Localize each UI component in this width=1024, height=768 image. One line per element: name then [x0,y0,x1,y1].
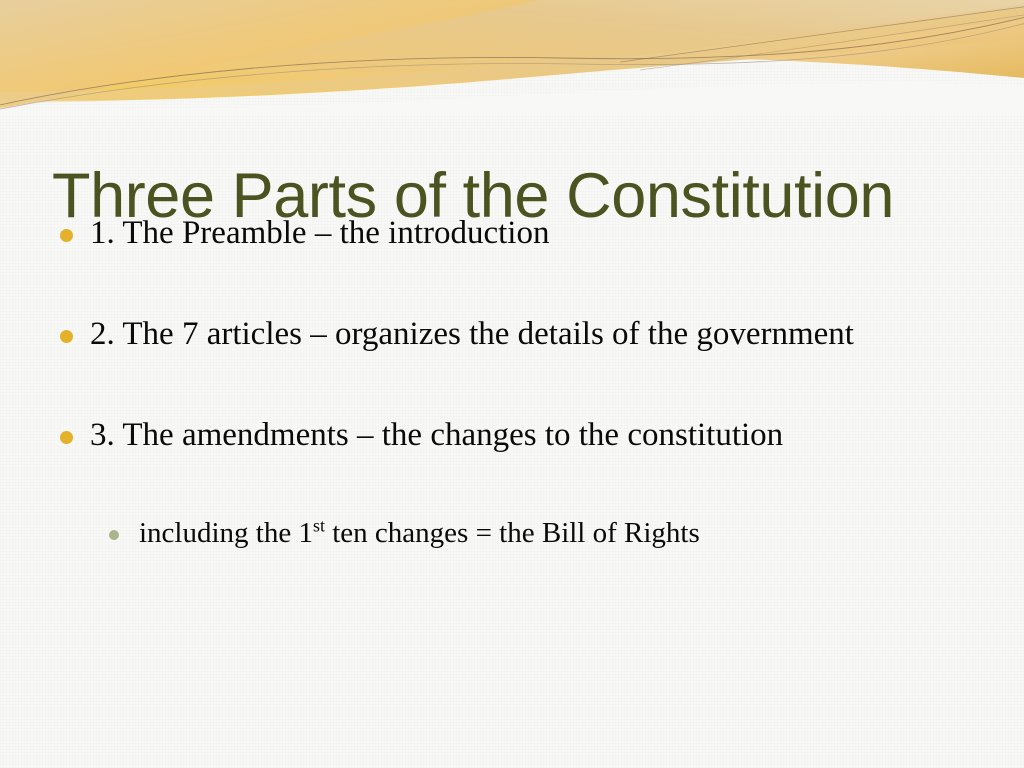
bullet-item-3-text: 3. The amendments – the changes to the c… [90,414,986,457]
sub-bullet-text-before-superscript: including the 1 [139,517,313,549]
sub-bullet-item-1: including the 1st ten changes = the Bill… [56,515,986,553]
sub-bullet-item-1-text: including the 1st ten changes = the Bill… [139,515,986,553]
bullet-item-3: 3. The amendments – the changes to the c… [56,414,986,457]
bullet-item-2: 2. The 7 articles – organizes the detail… [56,313,986,356]
filled-circle-bullet-icon [60,431,73,444]
ordinal-superscript: st [313,515,325,535]
presentation-slide: Three Parts of the Constitution 1. The P… [0,0,1024,768]
sub-bullet-text-after-superscript: ten changes = the Bill of Rights [325,517,700,549]
bullet-item-2-text: 2. The 7 articles – organizes the detail… [90,313,986,356]
bullet-item-1: 1. The Preamble – the introduction [56,212,986,255]
filled-circle-bullet-icon [60,330,73,343]
filled-circle-bullet-icon [60,229,73,242]
small-circle-bullet-icon [109,530,119,540]
decorative-wave-banner [0,0,1024,115]
slide-body-content: 1. The Preamble – the introduction 2. Th… [56,212,986,552]
bullet-item-1-text: 1. The Preamble – the introduction [90,212,986,255]
